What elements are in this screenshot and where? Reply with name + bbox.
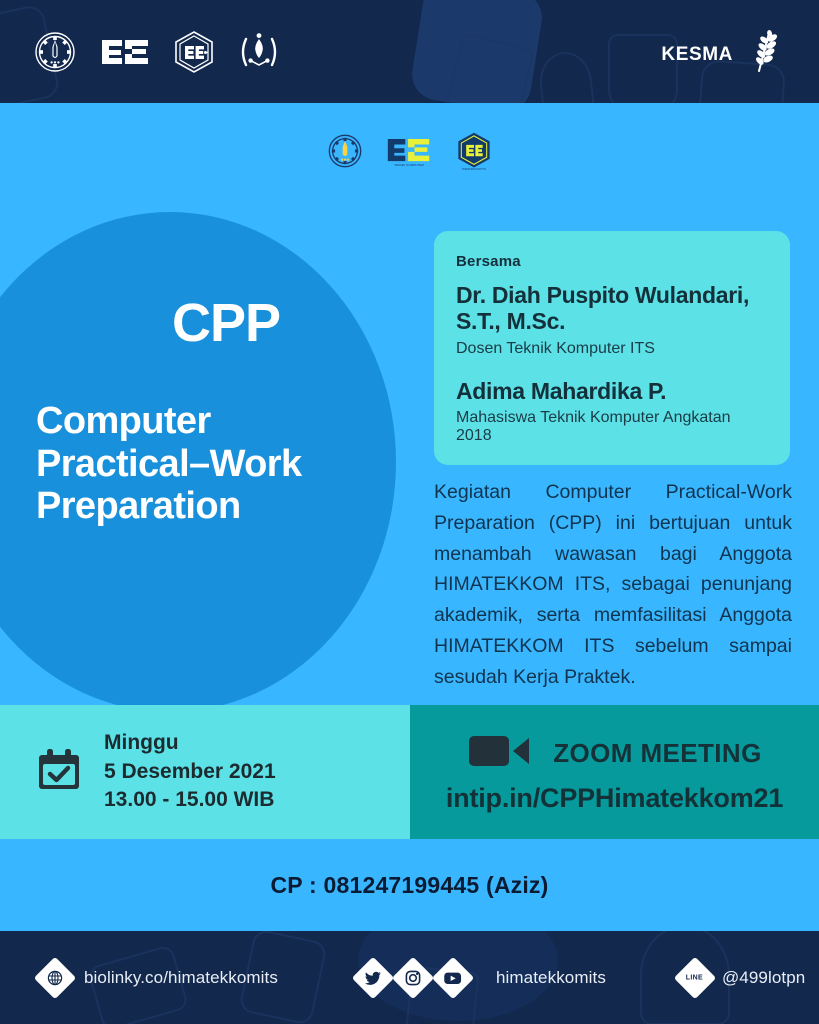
- event-date-band: Minggu 5 Desember 2021 13.00 - 15.00 WIB: [0, 705, 410, 839]
- meeting-url[interactable]: intip.in/CPPHimatekkom21: [446, 783, 783, 814]
- page-title-full: Computer Practical–Work Preparation: [36, 400, 416, 528]
- kesma-label: KESMA: [661, 44, 733, 66]
- platform-label: ZOOM MEETING: [553, 738, 761, 769]
- title-block: CPP Computer Practical–Work Preparation: [36, 296, 416, 528]
- globe-icon[interactable]: [34, 956, 76, 998]
- line-icon-label: LINE: [686, 974, 703, 981]
- twitter-icon[interactable]: [352, 956, 394, 998]
- footer-social-handle[interactable]: himatekkomits: [496, 968, 606, 988]
- video-camera-icon: [467, 730, 531, 777]
- title-line-1: Computer: [36, 400, 416, 443]
- event-date-text: Minggu 5 Desember 2021 13.00 - 15.00 WIB: [104, 729, 276, 816]
- footer-website-group[interactable]: biolinky.co/himatekkomits: [40, 963, 278, 993]
- event-time: 13.00 - 15.00 WIB: [104, 786, 276, 815]
- footer-line-group[interactable]: LINE @499lotpn: [680, 963, 805, 993]
- ce-wordmark-logo: TEKNIK KOMPUTER: [386, 134, 432, 168]
- footer-bar: biolinky.co/himatekkomits: [0, 931, 819, 1024]
- bem-its-logo: [238, 30, 280, 74]
- footer-social-group[interactable]: himatekkomits: [358, 963, 606, 993]
- speaker-2-name: Adima Mahardika P.: [456, 378, 768, 405]
- wheat-branch-icon: [747, 30, 781, 79]
- header-decoration-outline: [537, 49, 595, 103]
- title-line-2: Practical–Work: [36, 443, 416, 486]
- svg-text:TEKNIK KOMPUTER: TEKNIK KOMPUTER: [394, 163, 424, 167]
- calendar-check-icon: [36, 747, 82, 798]
- speaker-1-name: Dr. Diah Puspito Wulandari, S.T., M.Sc.: [456, 282, 768, 334]
- event-date: 5 Desember 2021: [104, 758, 276, 787]
- platform-row: ZOOM MEETING: [467, 730, 761, 777]
- footer-website-label[interactable]: biolinky.co/himatekkomits: [84, 968, 278, 988]
- its-logo: [326, 132, 364, 170]
- speaker-intro-label: Bersama: [456, 253, 768, 270]
- event-platform-band: ZOOM MEETING intip.in/CPPHimatekkom21: [410, 705, 819, 839]
- speaker-2-role: Mahasiswa Teknik Komputer Angkatan 2018: [456, 409, 768, 445]
- speaker-card: Bersama Dr. Diah Puspito Wulandari, S.T.…: [434, 231, 790, 465]
- kesma-brand: KESMA: [661, 30, 781, 79]
- youtube-icon[interactable]: [432, 956, 474, 998]
- header-bar: KESMA: [0, 0, 819, 103]
- event-description: Kegiatan Computer Practical-Work Prepara…: [434, 477, 792, 693]
- line-icon[interactable]: LINE: [674, 956, 716, 998]
- header-logo-group: [32, 28, 280, 76]
- footer-content-row: biolinky.co/himatekkomits: [0, 931, 819, 1024]
- contact-person-text: CP : 081247199445 (Aziz): [271, 872, 549, 899]
- svg-text:HIMATEKKOM ITS: HIMATEKKOM ITS: [462, 167, 486, 171]
- title-line-3: Preparation: [36, 485, 416, 528]
- page-title-acronym: CPP: [36, 296, 416, 350]
- speaker-1-role: Dosen Teknik Komputer ITS: [456, 340, 768, 358]
- himatekkom-hexagon-logo: [172, 30, 216, 74]
- contact-bar: CP : 081247199445 (Aziz): [0, 839, 819, 931]
- its-logo: [32, 29, 78, 75]
- ce-wordmark-logo: [100, 35, 150, 69]
- footer-line-handle[interactable]: @499lotpn: [722, 968, 805, 988]
- center-logo-strip: TEKNIK KOMPUTER HIMATEKKOM ITS: [0, 124, 819, 178]
- event-day: Minggu: [104, 729, 276, 758]
- himatekkom-hexagon-logo: HIMATEKKOM ITS: [454, 131, 494, 171]
- instagram-icon[interactable]: [392, 956, 434, 998]
- poster-canvas: KESMA: [0, 0, 819, 1024]
